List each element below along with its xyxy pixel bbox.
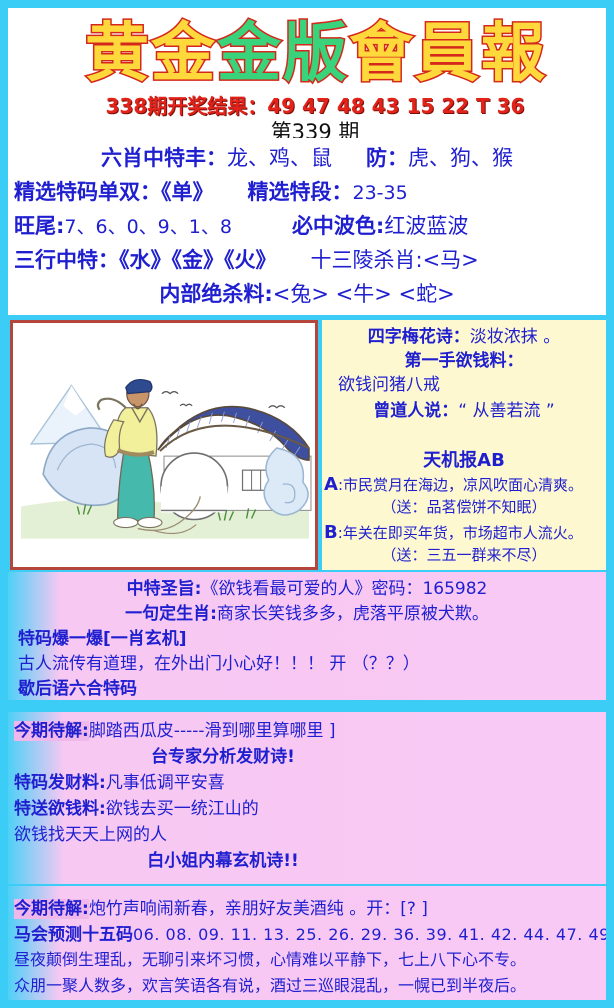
- xiehouyu-heading: 歇后语六合特码: [18, 674, 137, 699]
- range-label: 精选特段：: [248, 180, 353, 204]
- zodiac-value: 龙、鸡、鼠: [227, 146, 332, 170]
- title-char-1: 黄: [85, 18, 149, 90]
- fifteen-codes-value: 06. 08. 09. 11. 13. 25. 26. 29. 36. 39. …: [133, 925, 606, 944]
- elements-value: 《水》《金》《火》: [119, 248, 277, 272]
- plum-poem-row: 四字梅花诗：淡妆浓抹 。: [322, 322, 606, 347]
- zengdaoren-value: “ 从善若流 ”: [458, 401, 554, 421]
- tianjibao-b-note: （送：三五一群来不尽）: [322, 544, 606, 565]
- lottery-tip-poster: 黄金金版會員報 338期开奖结果：49 47 48 43 15 22 T 36 …: [0, 0, 614, 1008]
- plum-poem-label: 四字梅花诗：: [368, 327, 470, 347]
- prediction-info-block: 六肖中特丰：龙、鸡、鼠防：虎、狗、猴 精选特码单双：《单》精选特段：23-35 …: [8, 138, 606, 315]
- tianjibao-a-label: A: [324, 474, 338, 495]
- special-burst-text: 古人流传有道理，在外出门小心好！！！ 开 （？？）: [18, 649, 420, 674]
- fortune-material-row: 特码发财料:凡事低调平安喜: [14, 768, 225, 793]
- draw-result-line: 338期开奖结果：49 47 48 43 15 22 T 36: [16, 90, 614, 119]
- money-material-row: 特送欲钱料:欲钱去买一统江山的: [14, 794, 259, 819]
- tianjibao-heading: 天机报AB: [322, 446, 606, 472]
- info-row-zodiac: 六肖中特丰：龙、鸡、鼠防：虎、狗、猴: [8, 142, 606, 172]
- header-band: 黄金金版會員報 338期开奖结果：49 47 48 43 15 22 T 36 …: [8, 8, 606, 138]
- pink-middle-band: 中特圣旨:《欲钱看最可爱的人》密码：165982 一句定生肖:商家长笑钱多多，虎…: [8, 572, 606, 700]
- expert-poem-heading: 台专家分析发财诗!: [8, 742, 438, 767]
- fortune-material-label: 特码发财料:: [14, 773, 106, 793]
- fortune-material-value: 凡事低调平安喜: [106, 773, 225, 793]
- pending-answer-value-2: 炮竹声响闹新春，亲朋好友美酒纯 。开：[? ]: [89, 899, 428, 919]
- info-row-insider-kill: 内部绝杀料:<兔> <牛> <蛇>: [8, 278, 606, 308]
- verse-line-2: 众朋一聚人数多，欢言笑语各有说，酒过三巡眼混乱，一幌已到半夜后。: [14, 972, 526, 996]
- avoid-label: 防：: [366, 146, 408, 170]
- tianjibao-b-label: B: [324, 522, 338, 543]
- page-title: 黄金金版會員報: [16, 18, 614, 98]
- money-material-value: 欲钱去买一统江山的: [106, 799, 259, 819]
- tianjibao-a-row: A:市民赏月在海边，凉风吹面心清爽。: [324, 474, 583, 495]
- plum-poem-value: 淡妆浓抹 。: [470, 327, 560, 347]
- title-char-4: 版: [283, 18, 347, 90]
- special-burst-heading: 特码爆一爆[一肖玄机]: [18, 624, 187, 649]
- info-row-oddeven: 精选特码单双：《单》精选特段：23-35: [14, 176, 612, 206]
- zodiac-label: 六肖中特丰：: [101, 146, 227, 170]
- tianjibao-b-row: B:年关在即买年货，市场超市人流火。: [324, 522, 583, 543]
- oddeven-label: 精选特码单双：: [14, 180, 161, 204]
- one-line-zodiac-label: 一句定生肖:: [125, 604, 217, 624]
- zengdaoren-label: 曾道人说：: [373, 401, 458, 421]
- money-material-extra: 欲钱找天天上网的人: [14, 820, 167, 845]
- first-hand-label: 第一手欲钱料：: [322, 346, 606, 371]
- oddeven-value: 《单》: [161, 180, 214, 204]
- scholar-bridge-illustration: [13, 323, 315, 567]
- pending-answer-label-2: 今期待解:: [14, 899, 89, 919]
- tianjibao-a-note: （送：品茗偿饼不知眠）: [322, 496, 606, 517]
- illustration-frame: [10, 320, 318, 570]
- tails-label: 旺尾:: [14, 214, 64, 238]
- pending-answer-row-2: 今期待解:炮竹声响闹新春，亲朋好友美酒纯 。开：[? ]: [14, 894, 428, 919]
- pending-answer-value-1: 脚踏西瓜皮-----滑到哪里算哪里 ]: [89, 721, 336, 741]
- pink-lower-band: 今期待解:脚踏西瓜皮-----滑到哪里算哪里 ] 台专家分析发财诗! 特码发财料…: [8, 712, 606, 884]
- yellow-tips-panel: 四字梅花诗：淡妆浓抹 。 第一手欲钱料： 欲钱问猪八戒 曾道人说：“ 从善若流 …: [322, 320, 606, 570]
- avoid-value: 虎、狗、猴: [408, 146, 513, 170]
- tianjibao-a-text: :市民赏月在海边，凉风吹面心清爽。: [338, 476, 583, 494]
- title-char-5: 會: [349, 18, 413, 90]
- one-line-zodiac-value: 商家长笑钱多多，虎落平原被犬欺。: [217, 604, 489, 624]
- kill-zodiac-label: 十三陵杀肖:: [311, 248, 423, 272]
- range-value: 23-35: [353, 182, 408, 204]
- pending-answer-row-1: 今期待解:脚踏西瓜皮-----滑到哪里算哪里 ]: [14, 716, 336, 741]
- info-row-elements: 三行中特：《水》《金》《火》十三陵杀肖:<马>: [14, 244, 612, 274]
- fifteen-codes-label: 马会预测十五码: [14, 925, 133, 945]
- pink-bottom-band: 今期待解:炮竹声响闹新春，亲朋好友美酒纯 。开：[? ] 马会预测十五码06. …: [8, 886, 606, 1000]
- money-material-label: 特送欲钱料:: [14, 799, 106, 819]
- wave-label: 必中波色:: [292, 214, 384, 238]
- insider-kill-value: <兔> <牛> <蛇>: [273, 282, 455, 306]
- imperial-edict-label: 中特圣旨:: [127, 579, 202, 599]
- title-char-2: 金: [151, 18, 215, 90]
- elements-label: 三行中特：: [14, 248, 119, 272]
- pending-answer-label-1: 今期待解:: [14, 721, 89, 741]
- imperial-edict-row: 中特圣旨:《欲钱看最可爱的人》密码：165982: [8, 574, 606, 599]
- tails-value: 7、6、0、9、1、8: [64, 216, 232, 238]
- title-char-7: 報: [481, 18, 545, 90]
- imperial-edict-value: 《欲钱看最可爱的人》密码：165982: [201, 579, 487, 599]
- info-row-tails: 旺尾:7、6、0、9、1、8必中波色:红波蓝波: [14, 210, 612, 240]
- insider-kill-label: 内部绝杀料:: [159, 282, 272, 306]
- tianjibao-b-text: :年关在即买年货，市场超市人流火。: [338, 524, 583, 542]
- first-hand-value: 欲钱问猪八戒: [338, 370, 440, 395]
- title-char-6: 員: [415, 18, 479, 90]
- one-line-zodiac-row: 一句定生肖:商家长笑钱多多，虎落平原被犬欺。: [8, 599, 606, 624]
- fifteen-codes-row: 马会预测十五码06. 08. 09. 11. 13. 25. 26. 29. 3…: [14, 920, 606, 945]
- title-char-3: 金: [217, 18, 281, 90]
- zengdaoren-row: 曾道人说：“ 从善若流 ”: [322, 396, 606, 421]
- kill-zodiac-value: <马>: [423, 248, 479, 272]
- baixiaojie-heading: 白小姐内幕玄机诗!!: [8, 846, 438, 871]
- wave-value: 红波蓝波: [384, 214, 468, 238]
- verse-line-1: 昼夜颠倒生理乱，无聊引来坏习惯，心情难以平静下，七上八下心不专。: [14, 946, 526, 970]
